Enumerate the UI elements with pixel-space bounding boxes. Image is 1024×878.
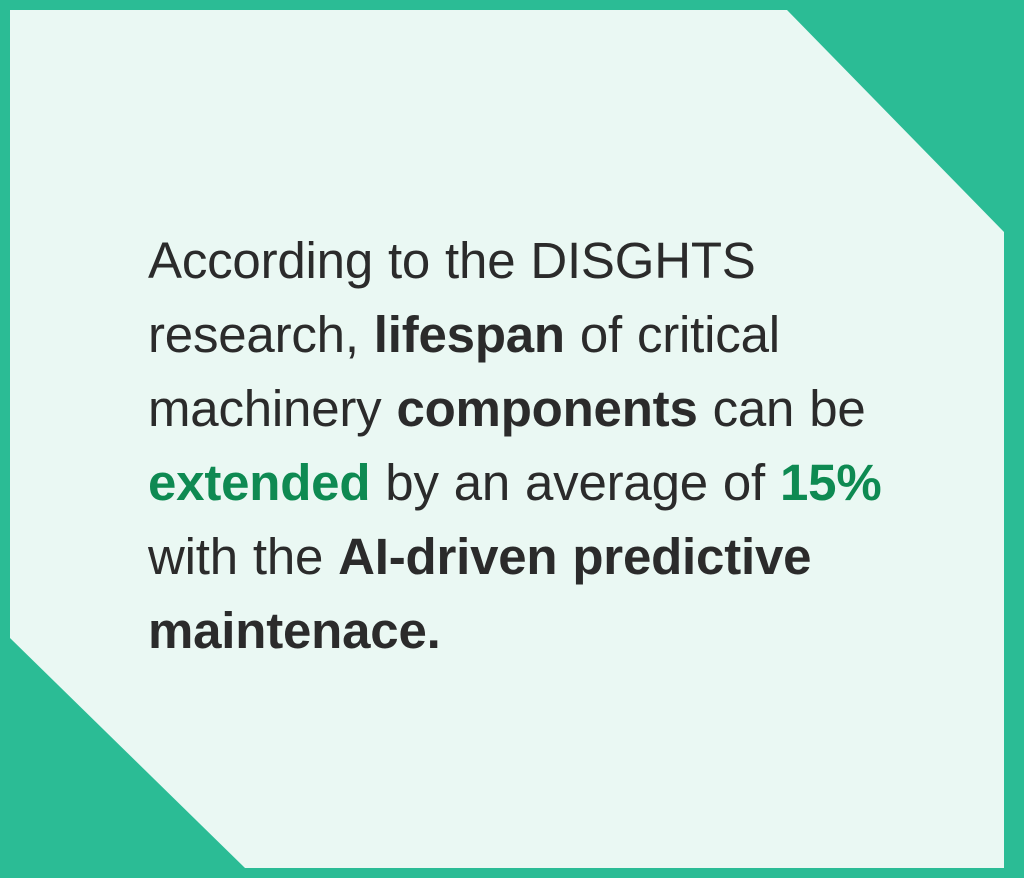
quote-text: According to the DISGHTS research, lifes… — [148, 224, 908, 668]
quote-segment-by-an-average-of: by an average of — [370, 454, 780, 511]
quote-highlight-extended: extended — [148, 454, 370, 511]
insight-card: According to the DISGHTS research, lifes… — [0, 0, 1024, 878]
quote-highlight-percentage: 15% — [780, 454, 881, 511]
quote-segment-with-the: with the — [148, 528, 338, 585]
quote-segment-can-be: can be — [698, 380, 866, 437]
quote-bold-components: components — [396, 380, 697, 437]
quote-bold-lifespan: lifespan — [374, 306, 565, 363]
card-inner-panel: According to the DISGHTS research, lifes… — [10, 10, 1014, 868]
